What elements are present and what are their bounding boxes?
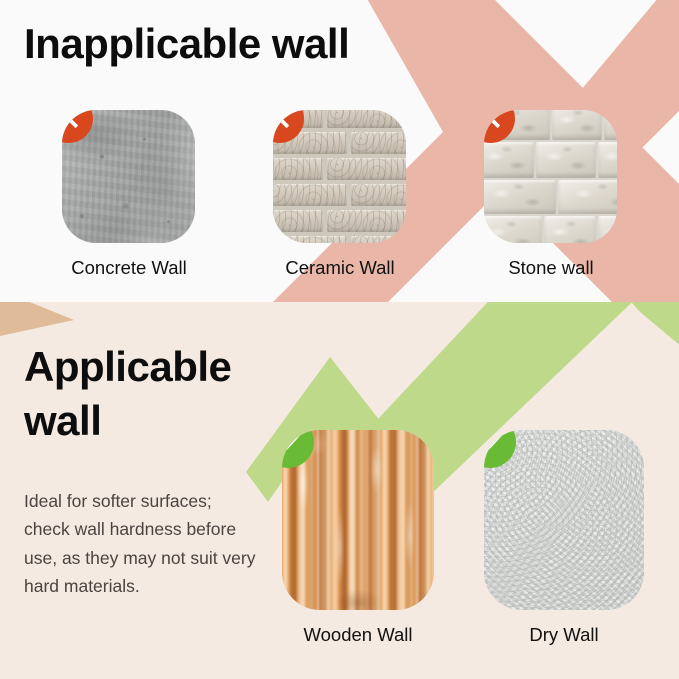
wall-image-stone [484,110,617,243]
inapplicable-wall-section: Inapplicable wall Concrete Wall [0,0,679,302]
wall-label-wooden: Wooden Wall [282,624,434,646]
page-title-applicable: Applicable wall [24,340,264,448]
wall-card-drywall[interactable]: Dry Wall [484,430,644,646]
infographic-canvas: Inapplicable wall Concrete Wall [0,0,679,679]
wall-label-stone: Stone wall [476,257,626,279]
applicable-wall-section: Applicable wall Ideal for softer surface… [0,302,679,679]
page-title-inapplicable: Inapplicable wall [24,20,349,67]
applicable-description: Ideal for softer surfaces; check wall ha… [24,487,256,600]
wall-label-drywall: Dry Wall [484,624,644,646]
wall-image-ceramic [273,110,406,243]
wall-image-concrete [62,110,195,243]
wall-card-wooden[interactable]: Wooden Wall [282,430,434,646]
wall-image-drywall [484,430,644,610]
wall-label-ceramic: Ceramic Wall [265,257,415,279]
wall-image-wooden [282,430,434,610]
wall-label-concrete: Concrete Wall [54,257,204,279]
wall-card-concrete[interactable]: Concrete Wall [62,110,204,279]
wall-card-ceramic[interactable]: Ceramic Wall [273,110,415,279]
wall-card-stone[interactable]: Stone wall [484,110,626,279]
